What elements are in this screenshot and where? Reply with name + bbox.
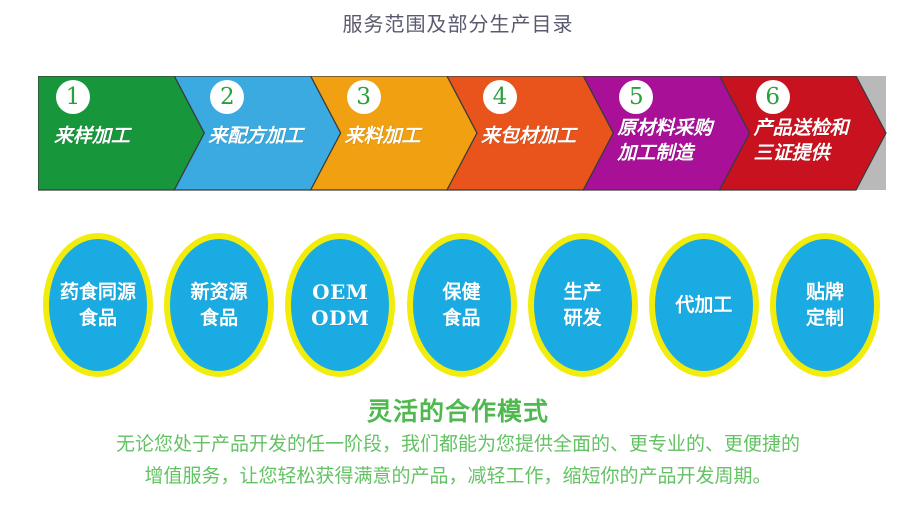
footer-paragraph-line: 增值服务，让您轻松获得满意的产品，减轻工作，缩短你的产品开发周期。 <box>0 460 916 492</box>
category-oval[interactable]: 代加工 <box>649 233 759 377</box>
category-oval[interactable]: 保健 食品 <box>407 233 517 377</box>
step-number-badge-1: 1 <box>56 80 90 114</box>
footer-paragraph: 无论您处于产品开发的任一阶段，我们都能为您提供全面的、更专业的、更便捷的增值服务… <box>0 428 916 492</box>
footer-paragraph-line: 无论您处于产品开发的任一阶段，我们都能为您提供全面的、更专业的、更便捷的 <box>0 428 916 460</box>
step-label-4: 来包材加工 <box>481 124 576 149</box>
step-number-badge-4: 4 <box>483 80 517 114</box>
step-label-3: 来料加工 <box>345 124 421 149</box>
category-oval-label: 贴牌 定制 <box>806 279 844 331</box>
category-oval-label: 生产 研发 <box>564 279 602 331</box>
step-label-5: 原材料采购加工制造 <box>617 116 712 166</box>
category-oval-label: 新资源 食品 <box>191 279 248 331</box>
category-oval-label: OEM ODM <box>311 279 369 331</box>
step-label-1: 来样加工 <box>54 124 130 149</box>
footer-heading: 灵活的合作模式 <box>0 392 916 428</box>
process-flow-band: 1来样加工2来配方加工3来料加工4来包材加工5原材料采购加工制造6产品送检和三证… <box>38 76 888 192</box>
category-oval[interactable]: 生产 研发 <box>528 233 638 377</box>
step-number-badge-3: 3 <box>347 80 381 114</box>
category-oval-label: 代加工 <box>675 292 732 318</box>
category-oval-label: 保健 食品 <box>442 279 480 331</box>
category-oval[interactable]: 药食同源 食品 <box>43 233 153 377</box>
step-label-2: 来配方加工 <box>208 124 303 149</box>
step-number-badge-6: 6 <box>756 80 790 114</box>
step-label-6: 产品送检和三证提供 <box>754 116 849 166</box>
category-oval[interactable]: 贴牌 定制 <box>770 233 880 377</box>
category-oval-label: 药食同源 食品 <box>60 279 136 331</box>
category-oval[interactable]: 新资源 食品 <box>164 233 274 377</box>
category-oval-row: 药食同源 食品新资源 食品OEM ODM保健 食品生产 研发代加工贴牌 定制 <box>0 233 916 383</box>
page-title: 服务范围及部分生产目录 <box>0 8 916 37</box>
category-oval[interactable]: OEM ODM <box>285 233 395 377</box>
